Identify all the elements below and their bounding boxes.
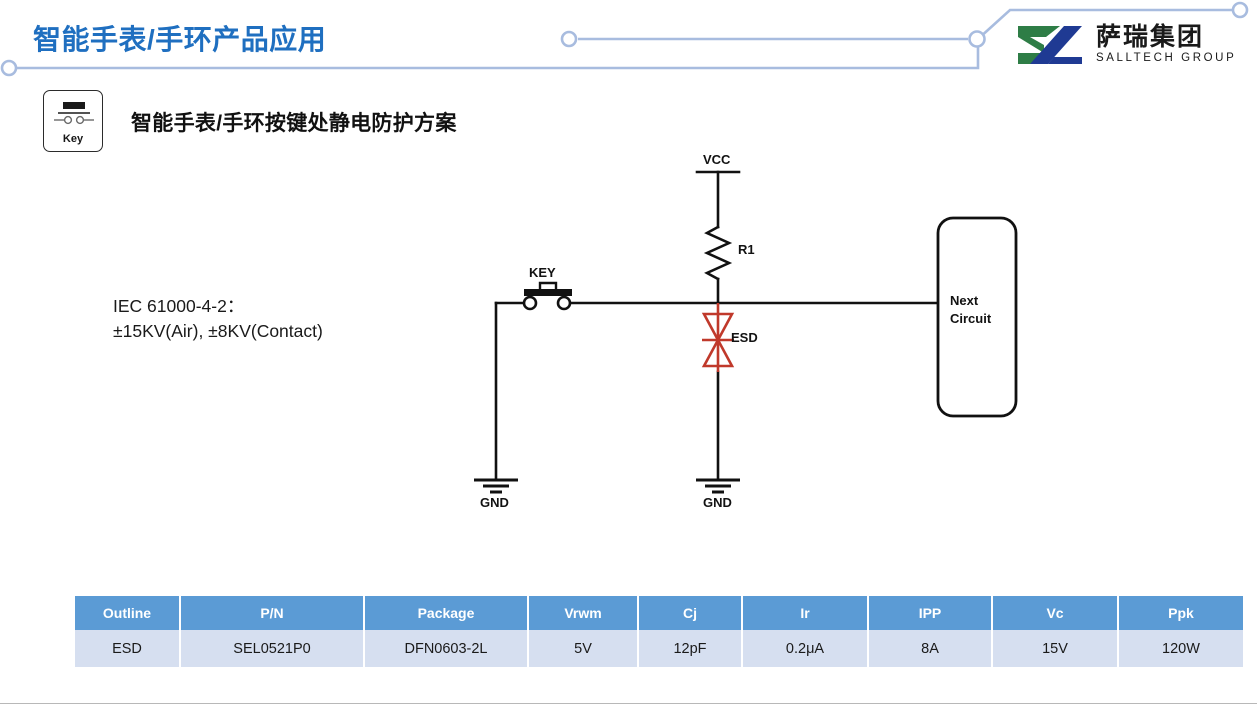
column-header-pn: P/N: [181, 596, 363, 630]
schematic-label-gnd-right: GND: [703, 495, 732, 510]
specification-table: Outline P/N Package Vrwm Cj Ir IPP Vc Pp…: [73, 596, 1245, 667]
column-header-vrwm: Vrwm: [529, 596, 637, 630]
bottom-divider: [0, 703, 1257, 704]
ground-symbol-left: [474, 480, 518, 492]
cell-vc: 15V: [993, 630, 1117, 667]
esd-tvs-diode-symbol: [702, 303, 734, 372]
schematic-label-vcc: VCC: [703, 152, 730, 167]
key-terminal-left: [524, 297, 536, 309]
cell-pn: SEL0521P0: [181, 630, 363, 667]
schematic-label-gnd-left: GND: [480, 495, 509, 510]
column-header-ppk: Ppk: [1119, 596, 1243, 630]
column-header-package: Package: [365, 596, 527, 630]
column-header-outline: Outline: [75, 596, 179, 630]
cell-ir: 0.2μA: [743, 630, 867, 667]
cell-vrwm: 5V: [529, 630, 637, 667]
column-header-ir: Ir: [743, 596, 867, 630]
next-circuit-label: Next Circuit: [950, 292, 991, 329]
esd-protection-schematic: [0, 0, 1257, 585]
cell-cj: 12pF: [639, 630, 741, 667]
next-circuit-label-line2: Circuit: [950, 310, 991, 328]
key-switch-symbol: [524, 283, 572, 309]
cell-ppk: 120W: [1119, 630, 1243, 667]
resistor-r1-symbol: [707, 227, 729, 279]
ground-symbol-right: [696, 480, 740, 492]
key-terminal-right: [558, 297, 570, 309]
schematic-label-r1: R1: [738, 242, 755, 257]
table-header-row: Outline P/N Package Vrwm Cj Ir IPP Vc Pp…: [75, 596, 1243, 630]
slide-page: 智能手表/手环产品应用 萨瑞集团 SALLTECH GROUP Key 智能手表…: [0, 0, 1257, 707]
column-header-cj: Cj: [639, 596, 741, 630]
column-header-ipp: IPP: [869, 596, 991, 630]
table-row: ESD SEL0521P0 DFN0603-2L 5V 12pF 0.2μA 8…: [75, 630, 1243, 667]
schematic-label-esd: ESD: [731, 330, 758, 345]
cell-package: DFN0603-2L: [365, 630, 527, 667]
cell-ipp: 8A: [869, 630, 991, 667]
next-circuit-label-line1: Next: [950, 292, 991, 310]
column-header-vc: Vc: [993, 596, 1117, 630]
schematic-label-key: KEY: [529, 265, 556, 280]
cell-outline: ESD: [75, 630, 179, 667]
